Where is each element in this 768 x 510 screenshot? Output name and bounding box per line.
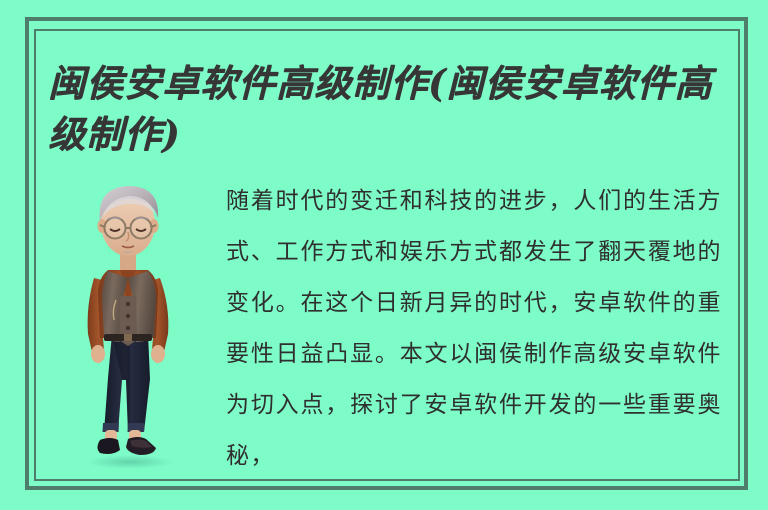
figure-hand-right: [151, 345, 165, 363]
glasses-lens-right: [131, 218, 152, 239]
figure-vest-button-3: [126, 326, 130, 330]
glasses-lens-left: [105, 218, 126, 239]
figure-vest-button-2: [126, 314, 130, 318]
page-title: 闽侯安卓软件高级制作(闽侯安卓软件高级制作): [48, 58, 740, 160]
illustration-cartoon-man: [64, 174, 196, 470]
figure-belt-buckle: [124, 334, 132, 341]
figure-shoe-left: [98, 438, 121, 454]
poster-canvas: 闽侯安卓软件高级制作(闽侯安卓软件高级制作): [0, 0, 768, 510]
figure-vest-button-1: [126, 302, 130, 306]
figure-ground-shadow: [86, 455, 174, 469]
body-paragraph: 随着时代的变迁和科技的进步，人们的生活方式、工作方式和娱乐方式都发生了翻天覆地的…: [226, 176, 722, 482]
figure-hand-left: [91, 345, 105, 363]
